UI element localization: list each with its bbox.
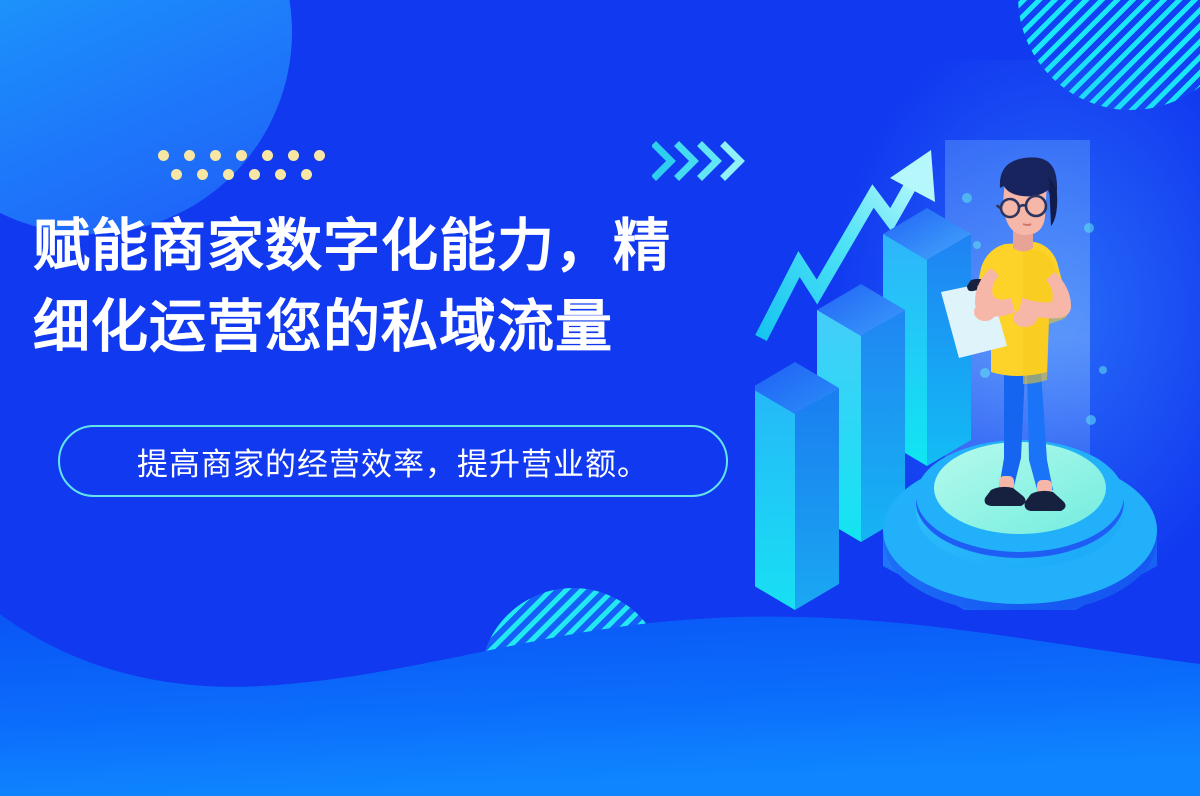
isometric-platform [883, 440, 1157, 610]
growth-chart-person-illustration [755, 140, 1200, 610]
headline-line-1: 赋能商家数字化能力，精 [33, 206, 773, 287]
marketing-banner: 赋能商家数字化能力，精 细化运营您的私域流量 提高商家的经营效率，提升营业额。 [0, 0, 1200, 796]
headline-line-2: 细化运营您的私域流量 [33, 287, 773, 368]
text-content: 赋能商家数字化能力，精 细化运营您的私域流量 提高商家的经营效率，提升营业额。 [0, 0, 780, 796]
subtitle-text: 提高商家的经营效率，提升营业额。 [137, 439, 649, 484]
striped-circle-top-right [1018, 0, 1200, 110]
bar-1 [755, 362, 839, 610]
hand-right [1013, 309, 1037, 327]
mouth [1023, 224, 1031, 225]
subtitle-pill: 提高商家的经营效率，提升营业额。 [58, 425, 728, 497]
hand-left [974, 303, 996, 321]
page-title: 赋能商家数字化能力，精 细化运营您的私域流量 [33, 206, 773, 368]
